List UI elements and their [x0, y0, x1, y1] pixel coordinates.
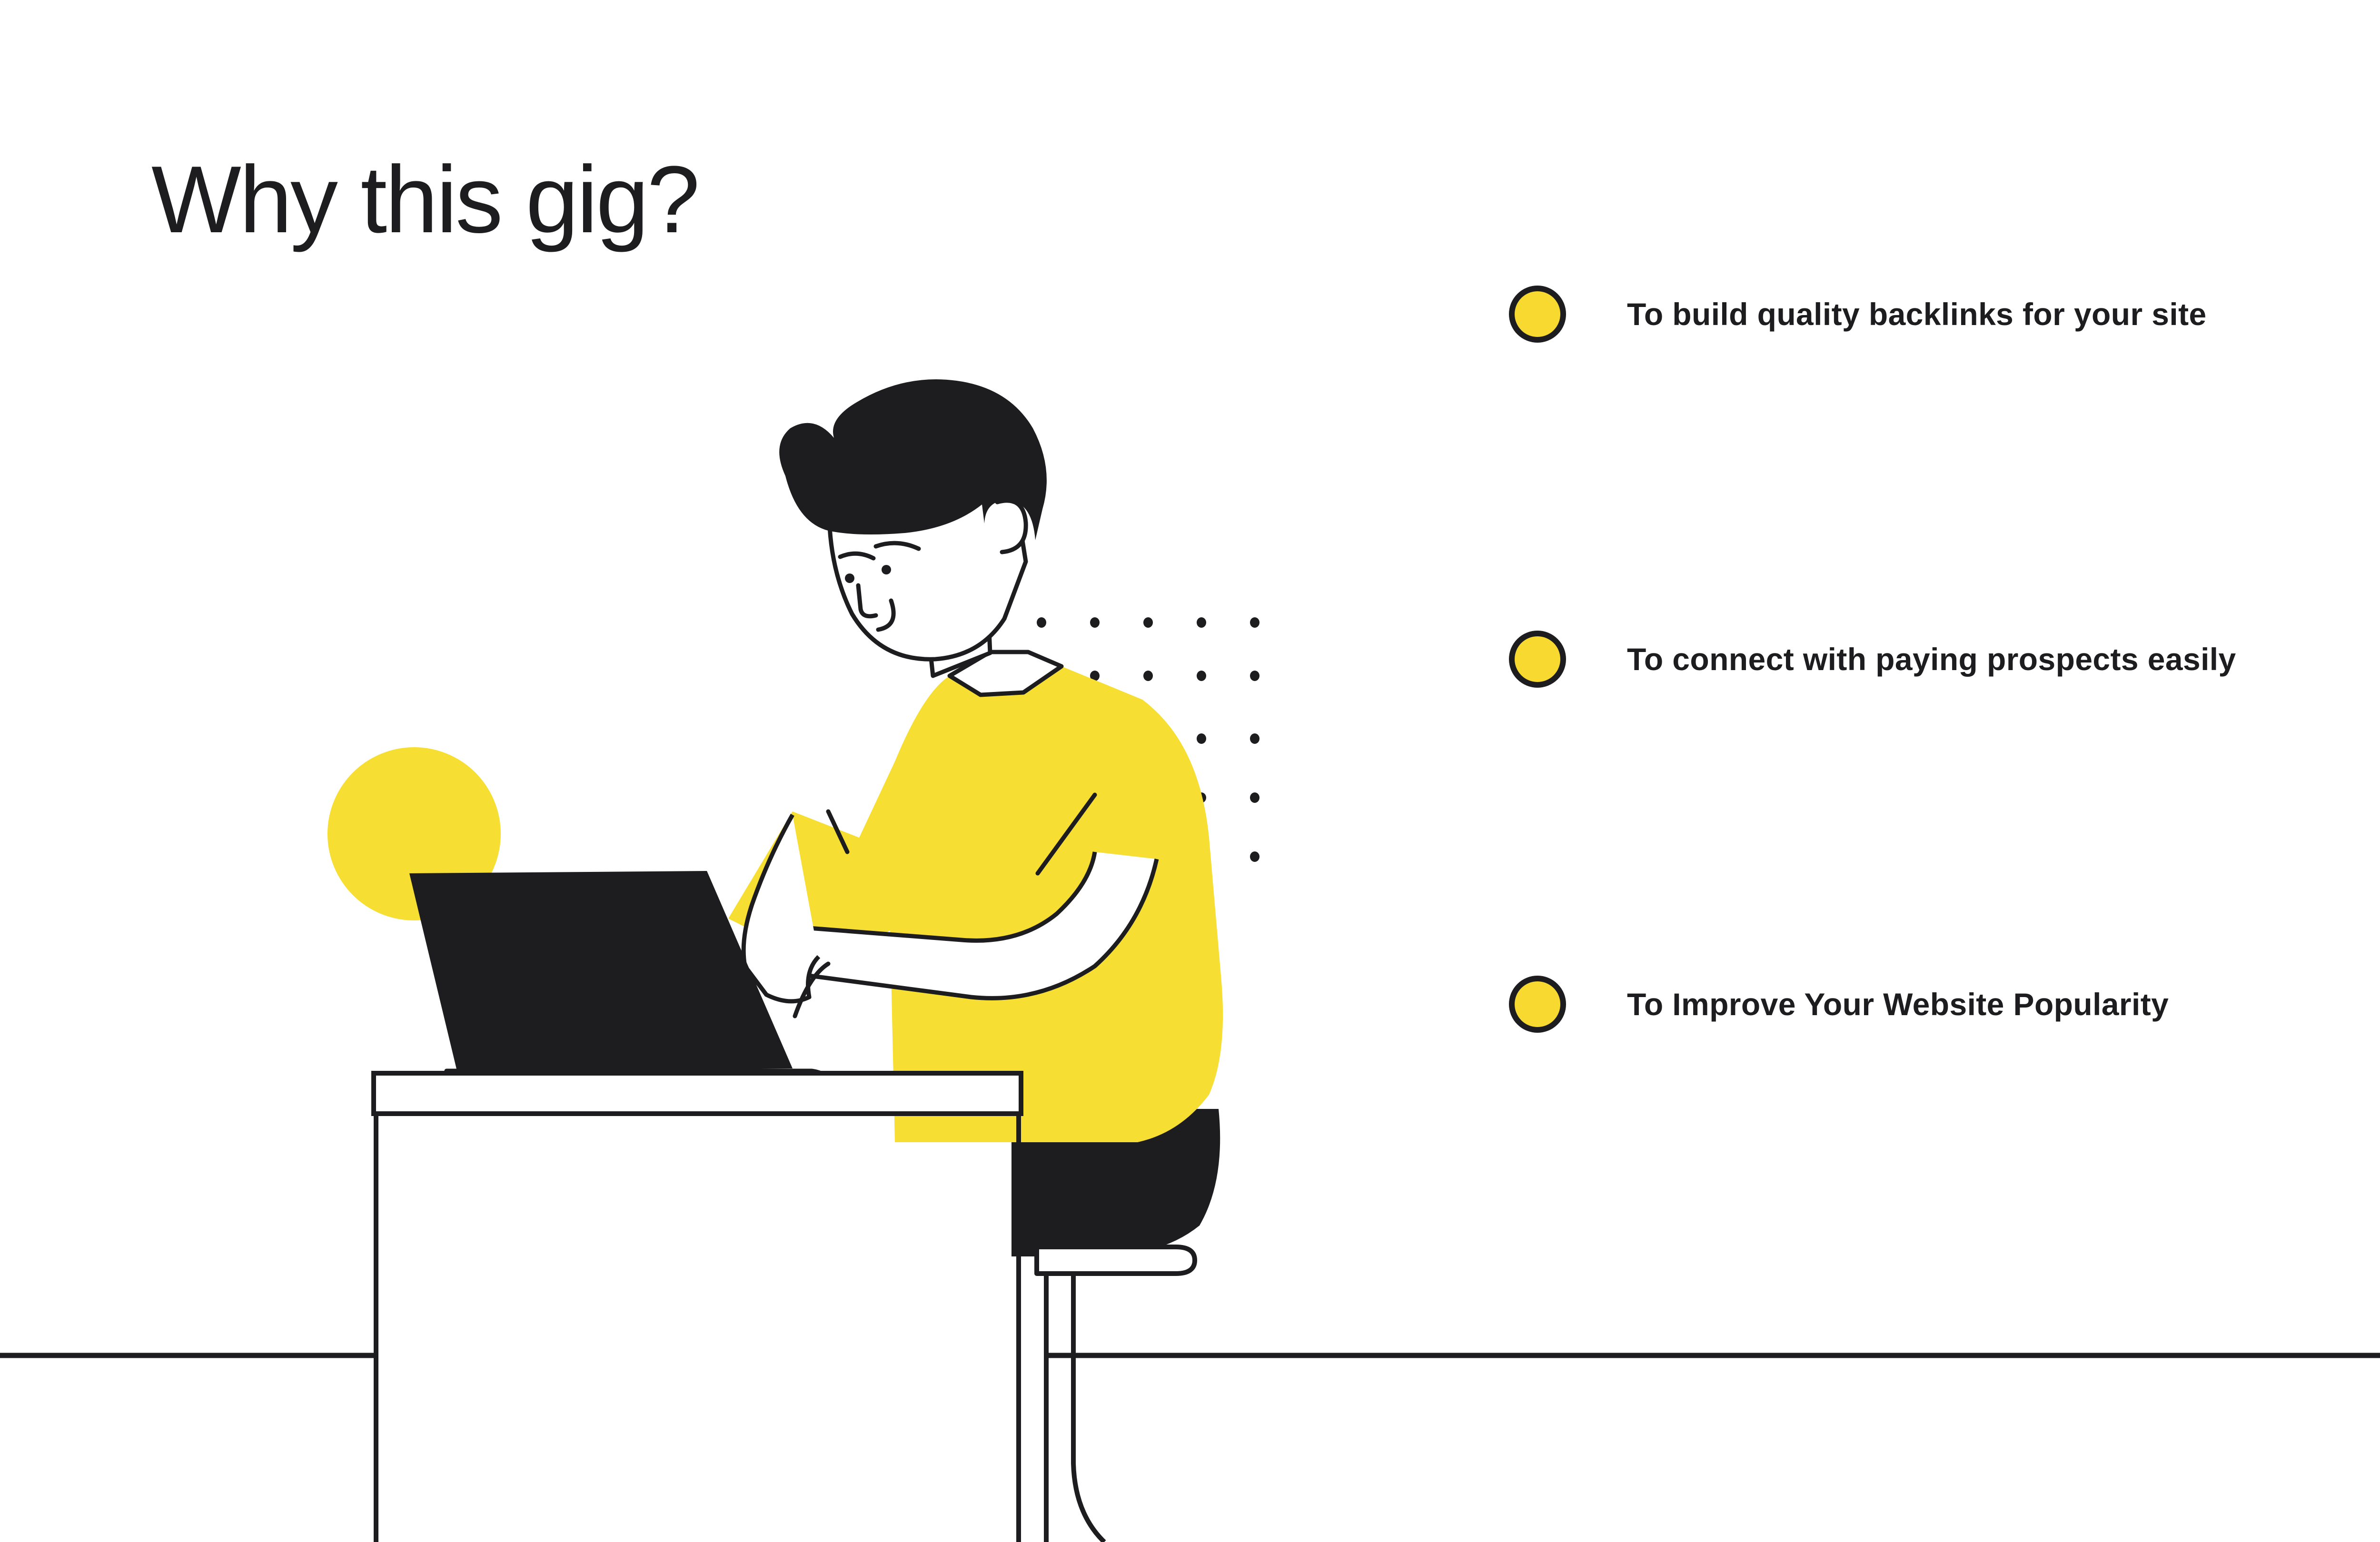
- bullet-marker-icon: [1509, 976, 1566, 1033]
- shirt-fold-left: [828, 811, 847, 852]
- person-arm-near: [744, 815, 819, 1001]
- person-eye-right: [882, 565, 891, 574]
- person-eyebrow-left: [840, 554, 873, 558]
- person-collar: [950, 652, 1061, 695]
- chair-stem-right: [1073, 1274, 1104, 1542]
- slide-canvas: Why this gig?: [0, 0, 2380, 1542]
- person-hand: [795, 964, 828, 1016]
- laptop-base: [446, 1071, 828, 1092]
- list-item-label: To Improve Your Website Popularity: [1627, 986, 2169, 1022]
- person-trousers: [1011, 1109, 1220, 1256]
- person-head: [829, 435, 1026, 659]
- person-eye-left: [845, 573, 854, 583]
- benefits-list: To build quality backlinks for your site…: [1509, 267, 2380, 1052]
- person-smile: [881, 603, 893, 624]
- list-item[interactable]: To connect with paying prospects easily: [1509, 612, 2380, 707]
- laptop-screen: [409, 871, 793, 1071]
- bullet-marker-icon: [1509, 631, 1566, 688]
- list-item-label: To build quality backlinks for your site: [1627, 296, 2207, 332]
- list-item[interactable]: To build quality backlinks for your site: [1509, 267, 2380, 362]
- person-mouth: [878, 601, 893, 630]
- list-item-label: To connect with paying prospects easily: [1627, 641, 2236, 677]
- bullet-marker-icon: [1509, 286, 1566, 343]
- page-title: Why this gig?: [151, 148, 698, 252]
- person-nose: [858, 585, 876, 616]
- dot-grid-pattern: [1037, 617, 1259, 862]
- person-eyebrow-right: [876, 543, 919, 549]
- person-tshirt: [728, 666, 1223, 1142]
- person-arm-far: [781, 852, 1157, 998]
- shirt-fold-right: [1038, 795, 1095, 873]
- person-ear: [997, 501, 1026, 552]
- person-hair: [779, 379, 1047, 540]
- desk-top: [374, 1073, 1021, 1114]
- yellow-circle-backdrop: [327, 747, 501, 920]
- list-item[interactable]: To Improve Your Website Popularity: [1509, 957, 2380, 1052]
- person-neck: [922, 562, 990, 676]
- chair-seat: [1037, 1247, 1195, 1274]
